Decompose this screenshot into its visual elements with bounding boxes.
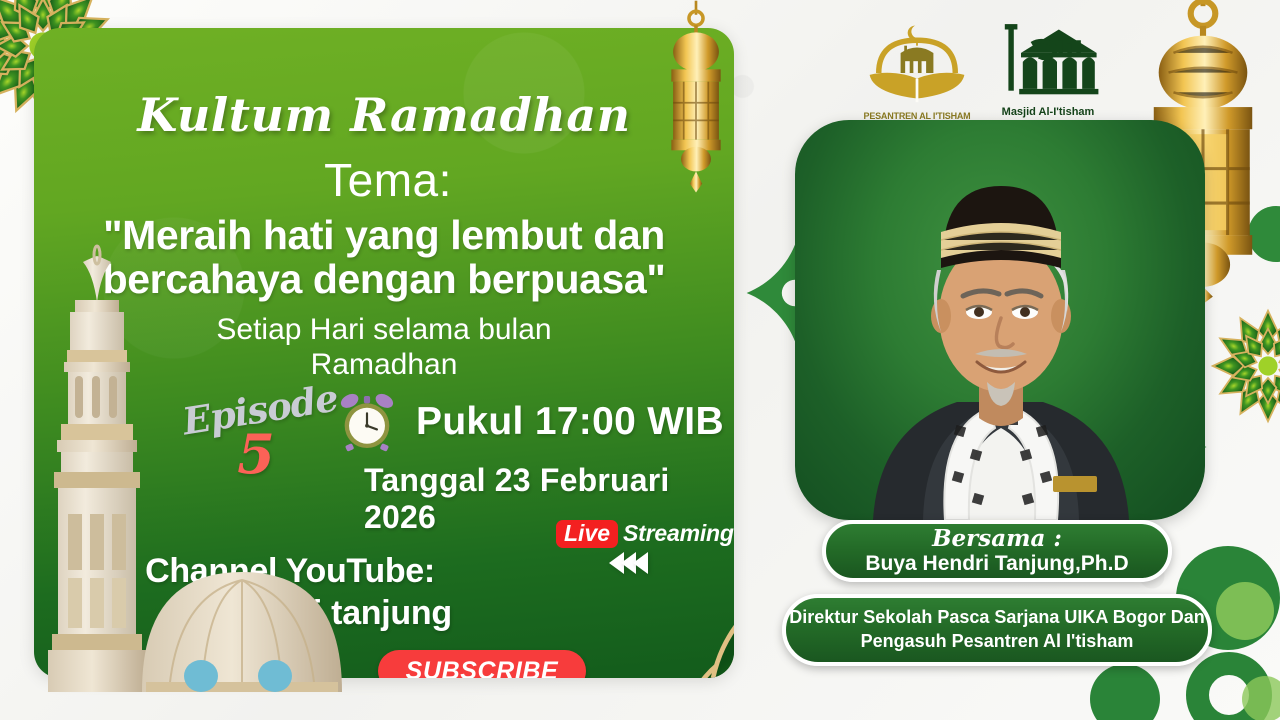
pesantren-mosque-book-icon <box>862 22 972 104</box>
decor-circle-light-2 <box>1242 676 1280 720</box>
speaker-portrait <box>795 120 1205 520</box>
speaker-name-plate: Bersama : Buya Hendri Tanjung,Ph.D <box>822 520 1172 582</box>
speaker-role-line1: Direktur Sekolah Pasca Sarjana UIKA Bogo… <box>789 606 1204 630</box>
event-time: Pukul 17:00 WIB <box>416 400 724 444</box>
theme-text-line1: "Meraih hati yang lembut dan <box>34 212 734 259</box>
organization-logos: PESANTREN AL I'TISHAM Masjid Al-I'tisham <box>862 22 1112 126</box>
speaker-photo-card <box>795 120 1205 520</box>
decor-circle-light-1 <box>1216 582 1274 640</box>
alarm-clock-icon <box>336 390 398 454</box>
speaker-name: Buya Hendri Tanjung,Ph.D <box>865 551 1128 576</box>
live-badge: Live <box>556 520 618 548</box>
ramadan-event-poster: Kultum Ramadhan Tema: "Meraih hati yang … <box>0 0 1280 720</box>
streaming-label: Streaming <box>623 520 734 546</box>
bersama-label: Bersama : <box>932 526 1062 551</box>
masjid-building-icon <box>994 22 1102 100</box>
schedule-line2: Ramadhan <box>34 348 734 382</box>
theme-text-line2: bercahaya dengan berpuasa" <box>34 256 734 303</box>
ramadan-lantern-icon-small <box>652 0 740 195</box>
schedule-line1: Setiap Hari selama bulan <box>34 313 734 347</box>
page-title: Kultum Ramadhan <box>34 88 734 142</box>
main-content-panel: Kultum Ramadhan Tema: "Meraih hati yang … <box>34 28 734 678</box>
episode-number: 5 <box>226 422 286 486</box>
speaker-role-line2: Pengasuh Pesantren Al I'tisham <box>861 630 1134 654</box>
channel-name: Hendri tanjung <box>34 594 734 633</box>
theme-label: Tema: <box>34 153 734 207</box>
pesantren-logo: PESANTREN AL I'TISHAM <box>862 22 972 126</box>
episode-block: Episode 5 <box>182 386 332 476</box>
mandala-flower-ornament-right <box>1208 306 1280 426</box>
channel-label: Channel YouTube: <box>34 552 734 591</box>
speaker-role-plate: Direktur Sekolah Pasca Sarjana UIKA Bogo… <box>782 594 1212 666</box>
subscribe-button[interactable]: SUBSCRIBE <box>378 650 586 678</box>
masjid-caption: Masjid Al-I'tisham <box>994 106 1102 118</box>
masjid-logo: Masjid Al-I'tisham <box>994 22 1102 126</box>
